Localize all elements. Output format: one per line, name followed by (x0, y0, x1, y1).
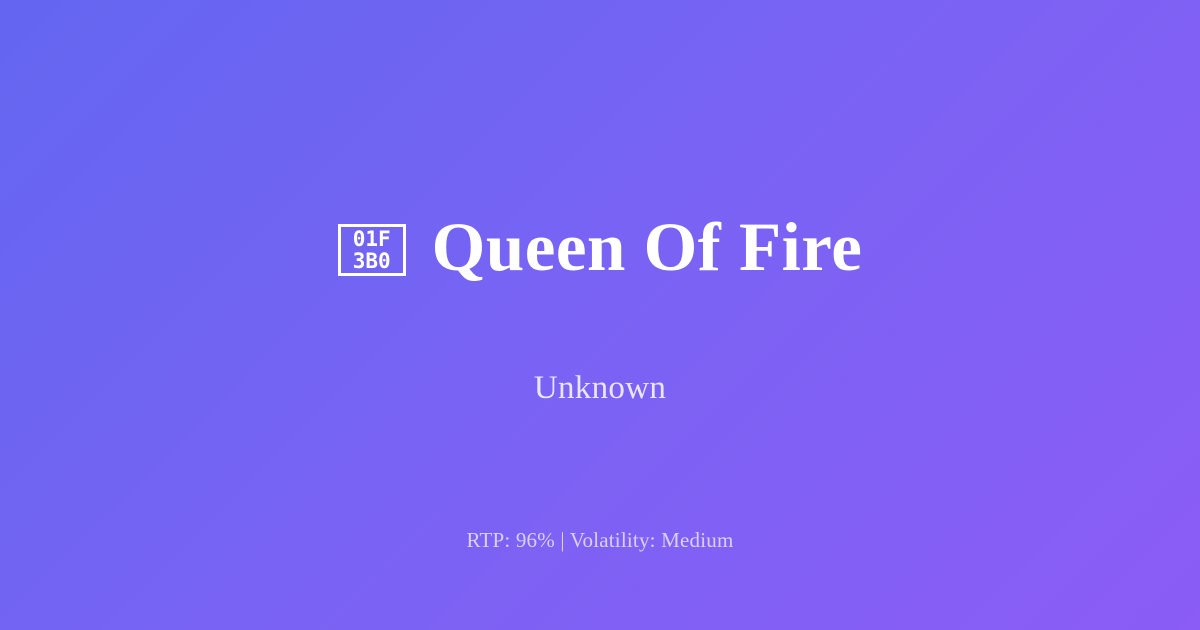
og-share-card: 01F 3B0 Queen Of Fire Unknown RTP: 96% |… (0, 0, 1200, 630)
tofu-codepoint-bottom: 3B0 (353, 250, 391, 272)
page-title: Queen Of Fire (432, 213, 863, 282)
title-row: 01F 3B0 Queen Of Fire (338, 167, 863, 328)
game-meta-line: RTP: 96% | Volatility: Medium (0, 528, 1200, 553)
tofu-codepoint-top: 01F (353, 228, 391, 250)
provider-subtitle: Unknown (534, 370, 666, 407)
slot-machine-icon: 01F 3B0 (338, 224, 406, 276)
